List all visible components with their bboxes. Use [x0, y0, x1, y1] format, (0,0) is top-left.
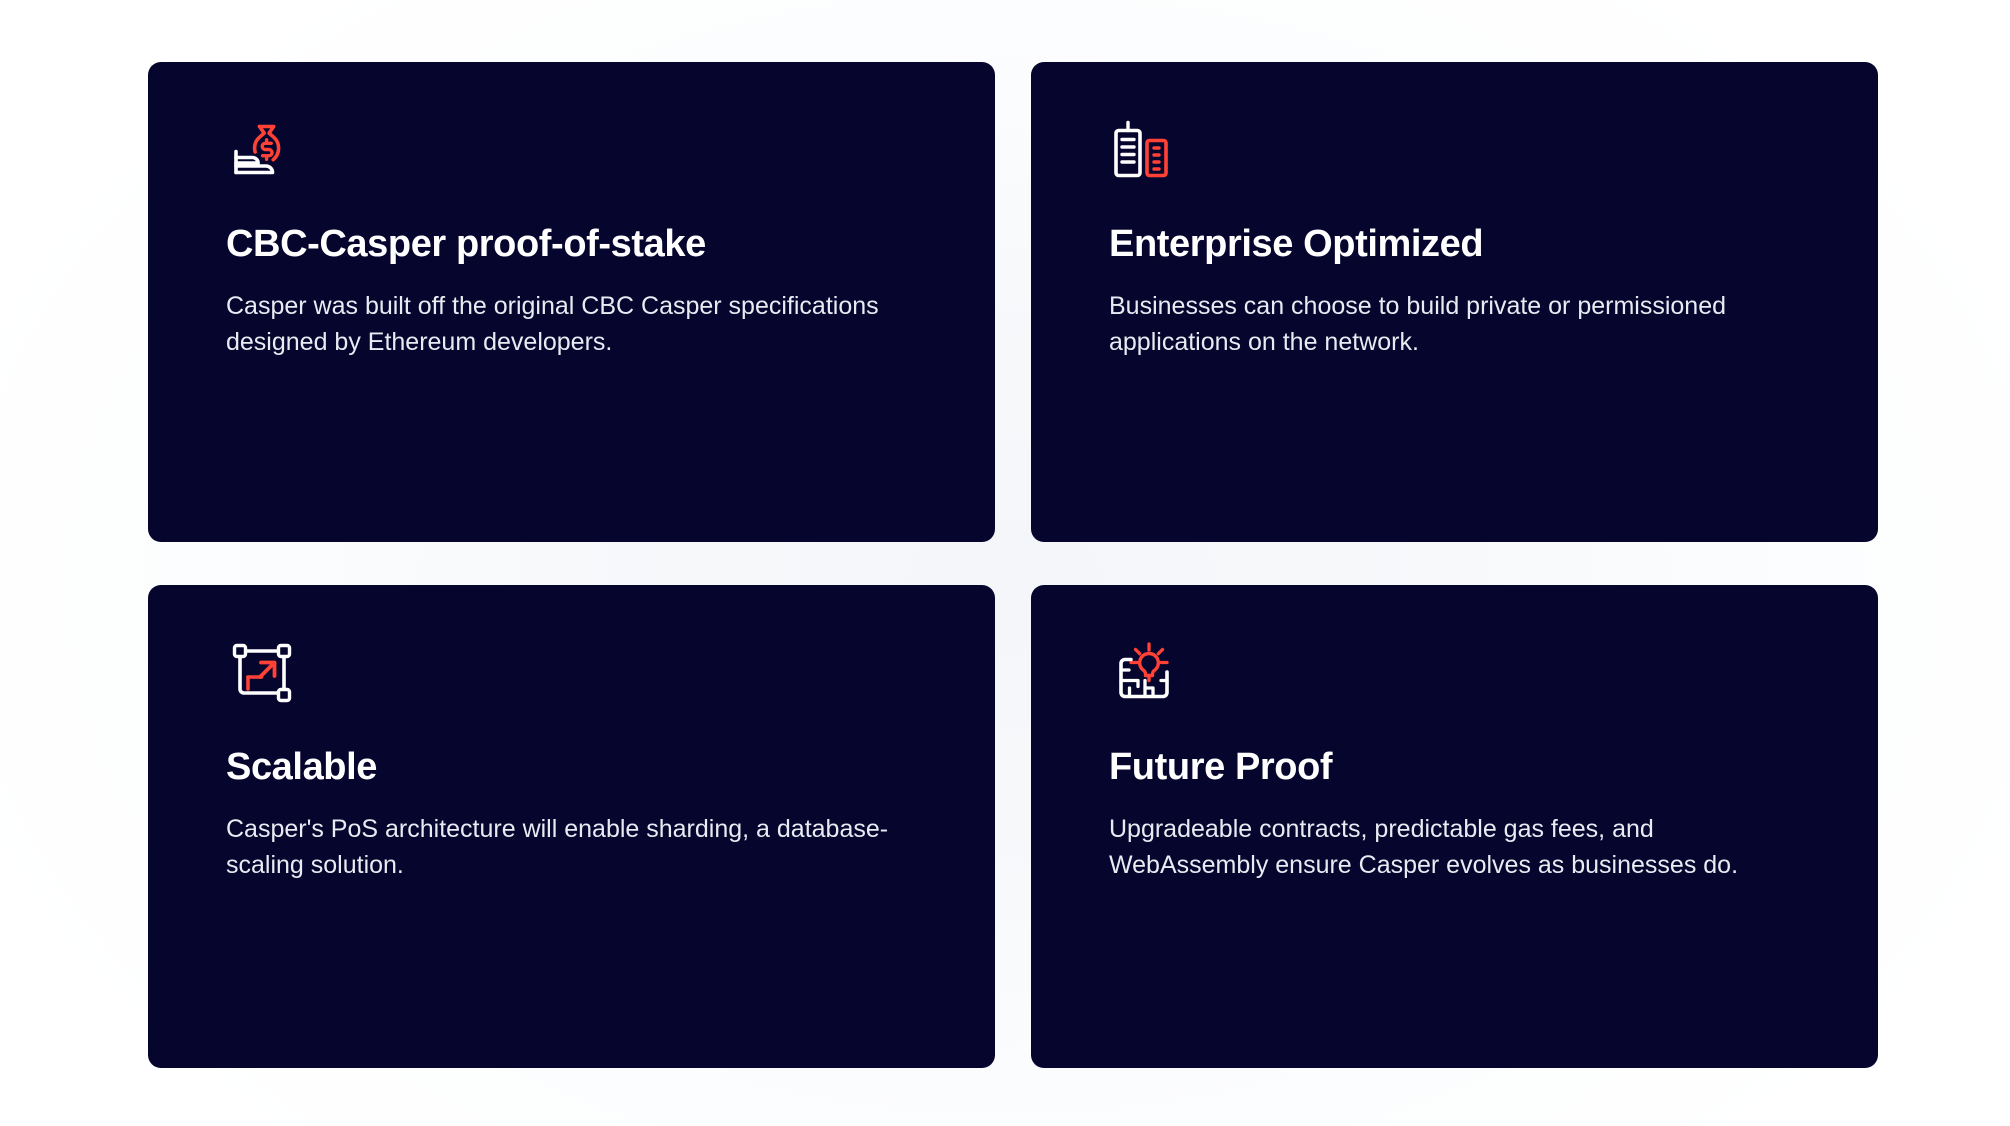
- feature-card-scalable[interactable]: Scalable Casper's PoS architecture will …: [148, 585, 995, 1068]
- card-description: Upgradeable contracts, predictable gas f…: [1109, 811, 1800, 884]
- card-title: Future Proof: [1109, 745, 1800, 789]
- office-buildings-icon: [1109, 114, 1181, 186]
- card-title: Enterprise Optimized: [1109, 222, 1800, 266]
- feature-card-enterprise-optimized[interactable]: Enterprise Optimized Businesses can choo…: [1031, 62, 1878, 542]
- card-title: Scalable: [226, 745, 917, 789]
- feature-card-grid: CBC-Casper proof-of-stake Casper was bui…: [148, 62, 1868, 1068]
- circuit-lightbulb-icon: [1109, 637, 1181, 709]
- card-description: Casper's PoS architecture will enable sh…: [226, 811, 906, 884]
- resize-expand-arrow-icon: [226, 637, 298, 709]
- card-description: Casper was built off the original CBC Ca…: [226, 288, 906, 361]
- money-bag-bed-icon: [226, 114, 298, 186]
- feature-card-cbc-casper-proof-of-stake[interactable]: CBC-Casper proof-of-stake Casper was bui…: [148, 62, 995, 542]
- card-title: CBC-Casper proof-of-stake: [226, 222, 917, 266]
- feature-card-future-proof[interactable]: Future Proof Upgradeable contracts, pred…: [1031, 585, 1878, 1068]
- card-description: Businesses can choose to build private o…: [1109, 288, 1789, 361]
